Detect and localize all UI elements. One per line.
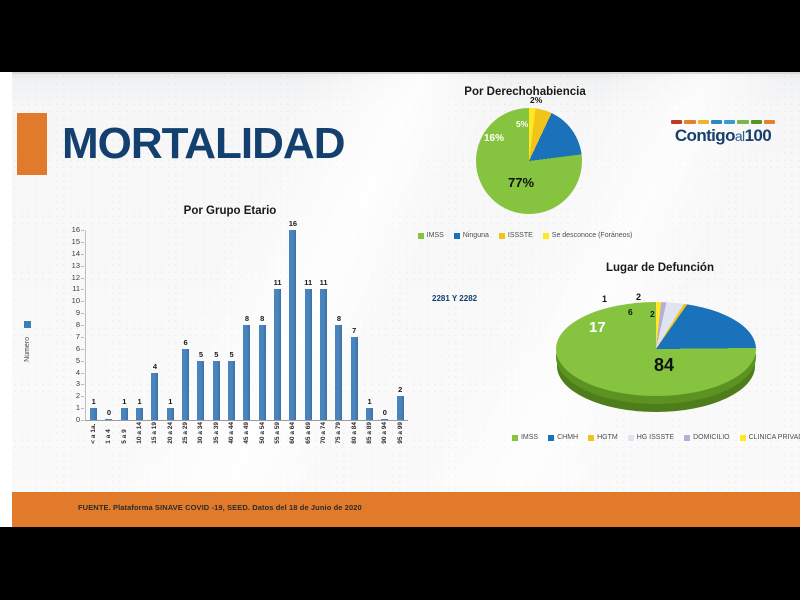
bar-column: 0 [101, 230, 116, 420]
x-axis-label-text: 60 a 64 [289, 422, 296, 444]
legend-label-numero: Número [24, 337, 31, 362]
bar: 0 [381, 419, 388, 421]
pie1-legend-item[interactable]: IMSS [418, 232, 444, 239]
x-axis-label: 30 a 34 [193, 422, 208, 444]
y-tick-mark [81, 289, 84, 290]
y-tick-label: 13 [72, 262, 80, 270]
bar-column: 0 [377, 230, 392, 420]
pie1-legend-swatch [418, 233, 424, 239]
x-axis-label: 20 a 24 [163, 422, 178, 444]
y-tick-mark [81, 337, 84, 338]
x-axis-label-text: 70 a 74 [320, 422, 327, 444]
pie2-legend-swatch [512, 435, 518, 441]
pie2-label-2a: 2 [636, 292, 641, 303]
bar: 5 [213, 361, 220, 420]
x-axis-label-text: 35 a 39 [213, 422, 220, 444]
y-tick-mark [81, 373, 84, 374]
x-axis-label-text: 15 a 19 [151, 422, 158, 444]
bar-column: 1 [132, 230, 147, 420]
y-axis: 012345678910111213141516 [58, 230, 84, 420]
bar-chart-plot-area: 012345678910111213141516 101141655588111… [58, 230, 408, 420]
logo-dash-1 [684, 120, 695, 124]
pie1-label-2: 2% [530, 95, 542, 105]
x-axis-label-text: < a 1a. [90, 422, 97, 444]
contigo-al-100-logo: Contigoal100 [667, 120, 779, 153]
pie-chart-por-derechohabiencia: Por Derechohabiencia 77% 16% 5% 2% IMSSN… [400, 86, 650, 261]
bar: 1 [366, 408, 373, 420]
pie2-legend-swatch [548, 435, 554, 441]
x-axis-label: 35 a 39 [209, 422, 224, 444]
x-axis-label-text: 50 a 54 [259, 422, 266, 444]
x-axis-label: 50 a 54 [255, 422, 270, 444]
bar-chart-legend: Número [20, 315, 34, 367]
pie1-legend-swatch [499, 233, 505, 239]
bar-value-label: 4 [153, 363, 157, 371]
x-axis-label: 85 a 89 [362, 422, 377, 444]
bar: 11 [305, 289, 312, 420]
pie1-label-16: 16% [484, 134, 504, 144]
y-tick-label: 4 [76, 369, 80, 377]
pie1-legend-item[interactable]: Ninguna [454, 232, 489, 239]
bar: 1 [136, 408, 143, 420]
bar-column: 7 [347, 230, 362, 420]
bar: 2 [397, 396, 404, 420]
x-axis-label: 80 a 84 [347, 422, 362, 444]
y-tick-label: 14 [72, 250, 80, 258]
bar-value-label: 5 [214, 351, 218, 359]
pie2-label-6: 6 [628, 307, 633, 318]
bar-column: 8 [255, 230, 270, 420]
x-axis-label: 5 a 9 [117, 422, 132, 444]
x-axis-label-text: 90 a 94 [381, 422, 388, 444]
pie-chart-lugar-de-defuncion: Lugar de Defunción 84 17 1 6 2 2 IMSSCHM… [528, 262, 793, 457]
pie2-legend-item[interactable]: DOMICILIO [684, 434, 730, 441]
pie2-legend-item[interactable]: HG ISSSTE [628, 434, 674, 441]
logo-name: Contigo [675, 126, 735, 145]
bar-chart-title: Por Grupo Etario [130, 205, 330, 217]
x-axis-label: 75 a 79 [331, 422, 346, 444]
bar-column: 5 [209, 230, 224, 420]
bar-value-label: 8 [245, 315, 249, 323]
y-tick-label: 15 [72, 238, 80, 246]
x-axis-label: 55 a 59 [270, 422, 285, 444]
x-axis-label: 10 a 14 [132, 422, 147, 444]
page-title: MORTALIDAD [62, 114, 344, 174]
bar-column: 8 [239, 230, 254, 420]
pie1-legend-label: Ninguna [463, 232, 489, 239]
bar-value-label: 1 [367, 398, 371, 406]
bar: 4 [151, 373, 158, 421]
bar-column: 16 [285, 230, 300, 420]
bar-value-label: 8 [337, 315, 341, 323]
logo-dash-6 [751, 120, 762, 124]
pie1-legend: IMSSNingunaISSSTESe desconoce (Foráneos) [395, 232, 655, 239]
bar-column: 1 [117, 230, 132, 420]
bar: 1 [167, 408, 174, 420]
y-tick-label: 10 [72, 297, 80, 305]
pie2-legend-label: CHMH [557, 434, 578, 441]
bar-column: 1 [163, 230, 178, 420]
bar-column: 6 [178, 230, 193, 420]
pie1-legend-label: IMSS [427, 232, 444, 239]
x-axis-label-text: 1 a 4 [105, 422, 112, 444]
pie2-label-17: 17 [589, 322, 606, 333]
bar-value-label: 1 [168, 398, 172, 406]
x-axis-label: 95 a 99 [393, 422, 408, 444]
bar-value-label: 11 [274, 279, 282, 287]
bar: 11 [320, 289, 327, 420]
x-axis-label-text: 55 a 59 [274, 422, 281, 444]
bar-series: 1011416555881116111187102 [86, 230, 408, 420]
logo-dash-7 [764, 120, 775, 124]
bar-value-label: 7 [352, 327, 356, 335]
x-axis-label-text: 30 a 34 [197, 422, 204, 444]
y-tick-label: 7 [76, 333, 80, 341]
bar-column: 8 [331, 230, 346, 420]
y-tick-label: 16 [72, 226, 80, 234]
pie2-legend-label: IMSS [521, 434, 538, 441]
logo-number: 100 [745, 126, 772, 145]
y-tick-mark [81, 325, 84, 326]
x-axis-labels: < a 1a.1 a 45 a 910 a 1415 a 1920 a 2425… [86, 422, 408, 444]
y-tick-mark [81, 396, 84, 397]
x-axis-label: 60 a 64 [285, 422, 300, 444]
x-axis-label: 15 a 19 [147, 422, 162, 444]
x-axis-label-text: 80 a 84 [351, 422, 358, 444]
pie2-legend-label: HGTM [597, 434, 618, 441]
logo-dash-4 [724, 120, 735, 124]
x-axis-label-text: 5 a 9 [121, 422, 128, 444]
bar-column: 11 [316, 230, 331, 420]
pie2-label-84: 84 [654, 360, 674, 371]
bar-value-label: 1 [92, 398, 96, 406]
pie2-title: Lugar de Defunción [550, 262, 770, 274]
x-axis-label-text: 40 a 44 [228, 422, 235, 444]
y-tick-label: 3 [76, 380, 80, 388]
y-tick-label: 2 [76, 392, 80, 400]
y-tick-label: 9 [76, 309, 80, 317]
bar-column: 11 [270, 230, 285, 420]
bar: 7 [351, 337, 358, 420]
x-axis-label-text: 20 a 24 [167, 422, 174, 444]
bar: 6 [182, 349, 189, 420]
bar-chart-por-grupo-etario: Por Grupo Etario Número 0123456789101112… [10, 205, 430, 527]
bar-value-label: 6 [184, 339, 188, 347]
bar: 1 [121, 408, 128, 420]
bar-column: 5 [224, 230, 239, 420]
y-tick-mark [81, 420, 84, 421]
pie2-legend-swatch [740, 435, 746, 441]
y-tick-mark [81, 278, 84, 279]
y-tick-mark [81, 384, 84, 385]
logo-wordmark: Contigoal100 [667, 126, 779, 146]
pie2-legend-item[interactable]: IMSS [512, 434, 538, 441]
bar: 8 [335, 325, 342, 420]
y-tick-label: 0 [76, 416, 80, 424]
bar-value-label: 2 [398, 386, 402, 394]
bar-column: 5 [193, 230, 208, 420]
logo-middle: al [735, 128, 745, 144]
y-tick-label: 1 [76, 404, 80, 412]
pie1-legend-label: Se desconoce (Foráneos) [552, 232, 633, 239]
logo-dash-5 [737, 120, 748, 124]
pie1-title: Por Derechohabiencia [420, 86, 630, 98]
x-axis-label-text: 85 a 89 [366, 422, 373, 444]
logo-dash-2 [698, 120, 709, 124]
footer-source-text: FUENTE. Plataforma SINAVE COVID -19, SEE… [78, 503, 362, 512]
bar: 16 [289, 230, 296, 420]
pie2-graphic [556, 302, 756, 396]
pie2-legend-swatch [588, 435, 594, 441]
bar: 5 [197, 361, 204, 420]
bar-column: 1 [86, 230, 101, 420]
bar-value-label: 0 [107, 409, 111, 417]
logo-dash-3 [711, 120, 722, 124]
x-axis-label-text: 25 a 29 [182, 422, 189, 444]
bar-value-label: 16 [289, 220, 297, 228]
bar: 0 [105, 419, 112, 421]
bar-value-label: 0 [383, 409, 387, 417]
bar: 5 [228, 361, 235, 420]
logo-dash-0 [671, 120, 682, 124]
slide-screenshot: MORTALIDAD Contigoal100 Por Grupo Etario… [0, 0, 800, 600]
x-axis-label: 90 a 94 [377, 422, 392, 444]
x-axis-label: < a 1a. [86, 422, 101, 444]
bar: 1 [90, 408, 97, 420]
bar-column: 11 [301, 230, 316, 420]
bar-value-label: 11 [320, 279, 328, 287]
x-axis-label: 45 a 49 [239, 422, 254, 444]
presentation-slide: MORTALIDAD Contigoal100 Por Grupo Etario… [0, 72, 800, 527]
y-tick-mark [81, 230, 84, 231]
legend-swatch-numero [24, 321, 31, 328]
bar-value-label: 5 [230, 351, 234, 359]
y-tick-mark [81, 408, 84, 409]
bar-chart-annotation: 2281 Y 2282 [432, 294, 477, 303]
title-accent-bar [17, 113, 47, 175]
pie1-legend-label: ISSSTE [508, 232, 533, 239]
y-tick-mark [81, 242, 84, 243]
pie2-legend-item[interactable]: CHMH [548, 434, 578, 441]
bar-value-label: 11 [304, 279, 312, 287]
pie1-legend-item[interactable]: ISSSTE [499, 232, 533, 239]
y-tick-mark [81, 361, 84, 362]
bar-column: 4 [147, 230, 162, 420]
pie1-label-77: 77% [508, 178, 534, 188]
pie2-legend: IMSSCHMHHGTMHG ISSSTEDOMICILIOCLINICA PR… [520, 434, 800, 441]
y-tick-label: 6 [76, 345, 80, 353]
y-tick-mark [81, 313, 84, 314]
pie2-legend-item[interactable]: CLINICA PRIVADA [740, 434, 800, 441]
bar: 8 [243, 325, 250, 420]
y-tick-label: 11 [72, 285, 80, 293]
pie2-legend-label: HG ISSSTE [637, 434, 674, 441]
pie1-legend-swatch [454, 233, 460, 239]
y-tick-mark [81, 266, 84, 267]
x-axis-label: 65 a 69 [301, 422, 316, 444]
pie1-graphic [476, 108, 582, 214]
bar-value-label: 1 [122, 398, 126, 406]
top-divider-line [12, 72, 800, 74]
x-axis-label: 40 a 44 [224, 422, 239, 444]
x-axis-label-text: 10 a 14 [136, 422, 143, 444]
pie2-legend-swatch [684, 435, 690, 441]
pie2-label-2b: 2 [650, 309, 655, 320]
y-tick-mark [81, 254, 84, 255]
logo-dash-row [667, 120, 779, 124]
x-axis-label: 25 a 29 [178, 422, 193, 444]
pie1-legend-item[interactable]: Se desconoce (Foráneos) [543, 232, 633, 239]
pie2-legend-item[interactable]: HGTM [588, 434, 618, 441]
y-tick-label: 12 [72, 274, 80, 282]
y-tick-label: 8 [76, 321, 80, 329]
pie2-legend-label: DOMICILIO [693, 434, 730, 441]
y-tick-mark [81, 301, 84, 302]
x-axis-label-text: 95 a 99 [397, 422, 404, 444]
pie2-label-1: 1 [602, 294, 607, 305]
bar-value-label: 8 [260, 315, 264, 323]
bar-value-label: 5 [199, 351, 203, 359]
y-tick-label: 5 [76, 357, 80, 365]
x-axis-label-text: 75 a 79 [335, 422, 342, 444]
bar: 11 [274, 289, 281, 420]
pie1-label-5: 5% [516, 119, 528, 129]
x-axis-label: 1 a 4 [101, 422, 116, 444]
bar-value-label: 1 [138, 398, 142, 406]
pie1-legend-swatch [543, 233, 549, 239]
pie2-legend-label: CLINICA PRIVADA [749, 434, 800, 441]
x-axis-label-text: 65 a 69 [305, 422, 312, 444]
x-axis-label: 70 a 74 [316, 422, 331, 444]
y-tick-mark [81, 349, 84, 350]
bar-column: 1 [362, 230, 377, 420]
pie2-legend-swatch [628, 435, 634, 441]
x-axis-label-text: 45 a 49 [243, 422, 250, 444]
bar: 8 [259, 325, 266, 420]
